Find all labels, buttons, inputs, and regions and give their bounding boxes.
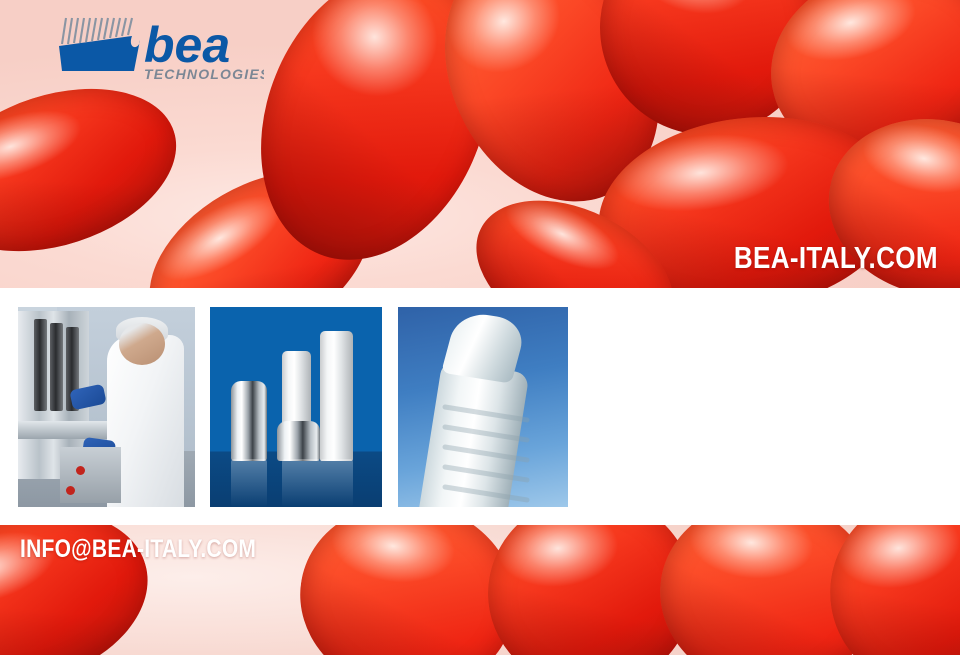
logo-wave-shape bbox=[59, 36, 140, 71]
top-capsule-background: bea TECHNOLOGIES BEA-ITALY.COM bbox=[0, 0, 960, 288]
advertisement-poster: bea TECHNOLOGIES BEA-ITALY.COM bbox=[0, 0, 960, 655]
photo-filter-cartridge-closeup bbox=[398, 307, 568, 507]
website-url[interactable]: BEA-ITALY.COM bbox=[734, 240, 938, 276]
contact-email[interactable]: INFO@BEA-ITALY.COM bbox=[20, 535, 256, 564]
logo-wordmark: bea bbox=[144, 17, 230, 73]
logo-tagline: TECHNOLOGIES bbox=[144, 66, 264, 82]
svg-text:bea: bea bbox=[144, 17, 230, 73]
photo-filter-housings-cartridges bbox=[210, 307, 382, 507]
bea-technologies-logo: bea TECHNOLOGIES bbox=[48, 10, 264, 82]
photo-cleanroom-operator bbox=[18, 307, 195, 507]
content-panel: TRUSTING THE EXPERIENCE PREFILTRATION, M… bbox=[0, 288, 960, 525]
